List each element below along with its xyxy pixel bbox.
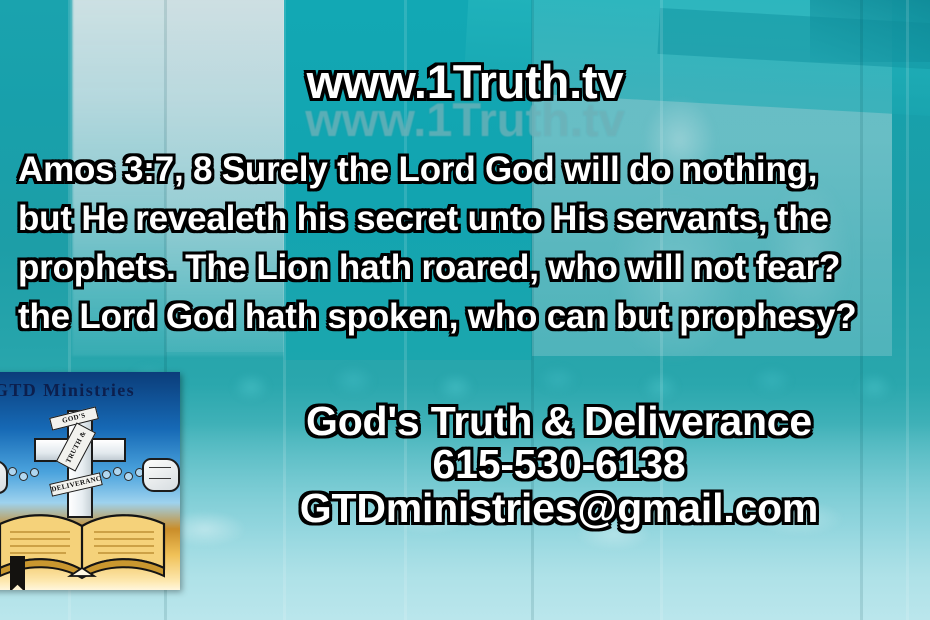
background-top-right-shadow	[810, 0, 930, 62]
gtd-ministries-logo: GTD Ministries GOD'S TRUTH & DELIVERANCE	[0, 372, 180, 590]
scripture-line: the Lord God hath spoken, who can but pr…	[0, 292, 930, 341]
ministry-name: God's Truth & Deliverance	[188, 400, 930, 443]
email-address: GTDministries@gmail.com	[188, 487, 930, 530]
scripture-line: but He revealeth his secret unto His ser…	[0, 194, 930, 243]
logo-title-text: GTD Ministries	[0, 380, 135, 401]
phone-number: 615-530-6138	[188, 443, 930, 486]
scripture-line: Amos 3:7, 8 Surely the Lord God will do …	[0, 145, 930, 194]
scripture-passage: Amos 3:7, 8 Surely the Lord God will do …	[0, 145, 930, 341]
fist-left-icon	[0, 460, 8, 494]
site-title: www.1Truth.tv	[0, 58, 930, 105]
video-overlay-slide: www.1Truth.tv www.1Truth.tv Amos 3:7, 8 …	[0, 0, 930, 620]
scripture-line: prophets. The Lion hath roared, who will…	[0, 243, 930, 292]
bible-bookmark-ribbon	[10, 556, 25, 590]
contact-block: God's Truth & Deliverance 615-530-6138 G…	[188, 400, 930, 530]
fist-right-icon	[142, 458, 180, 492]
